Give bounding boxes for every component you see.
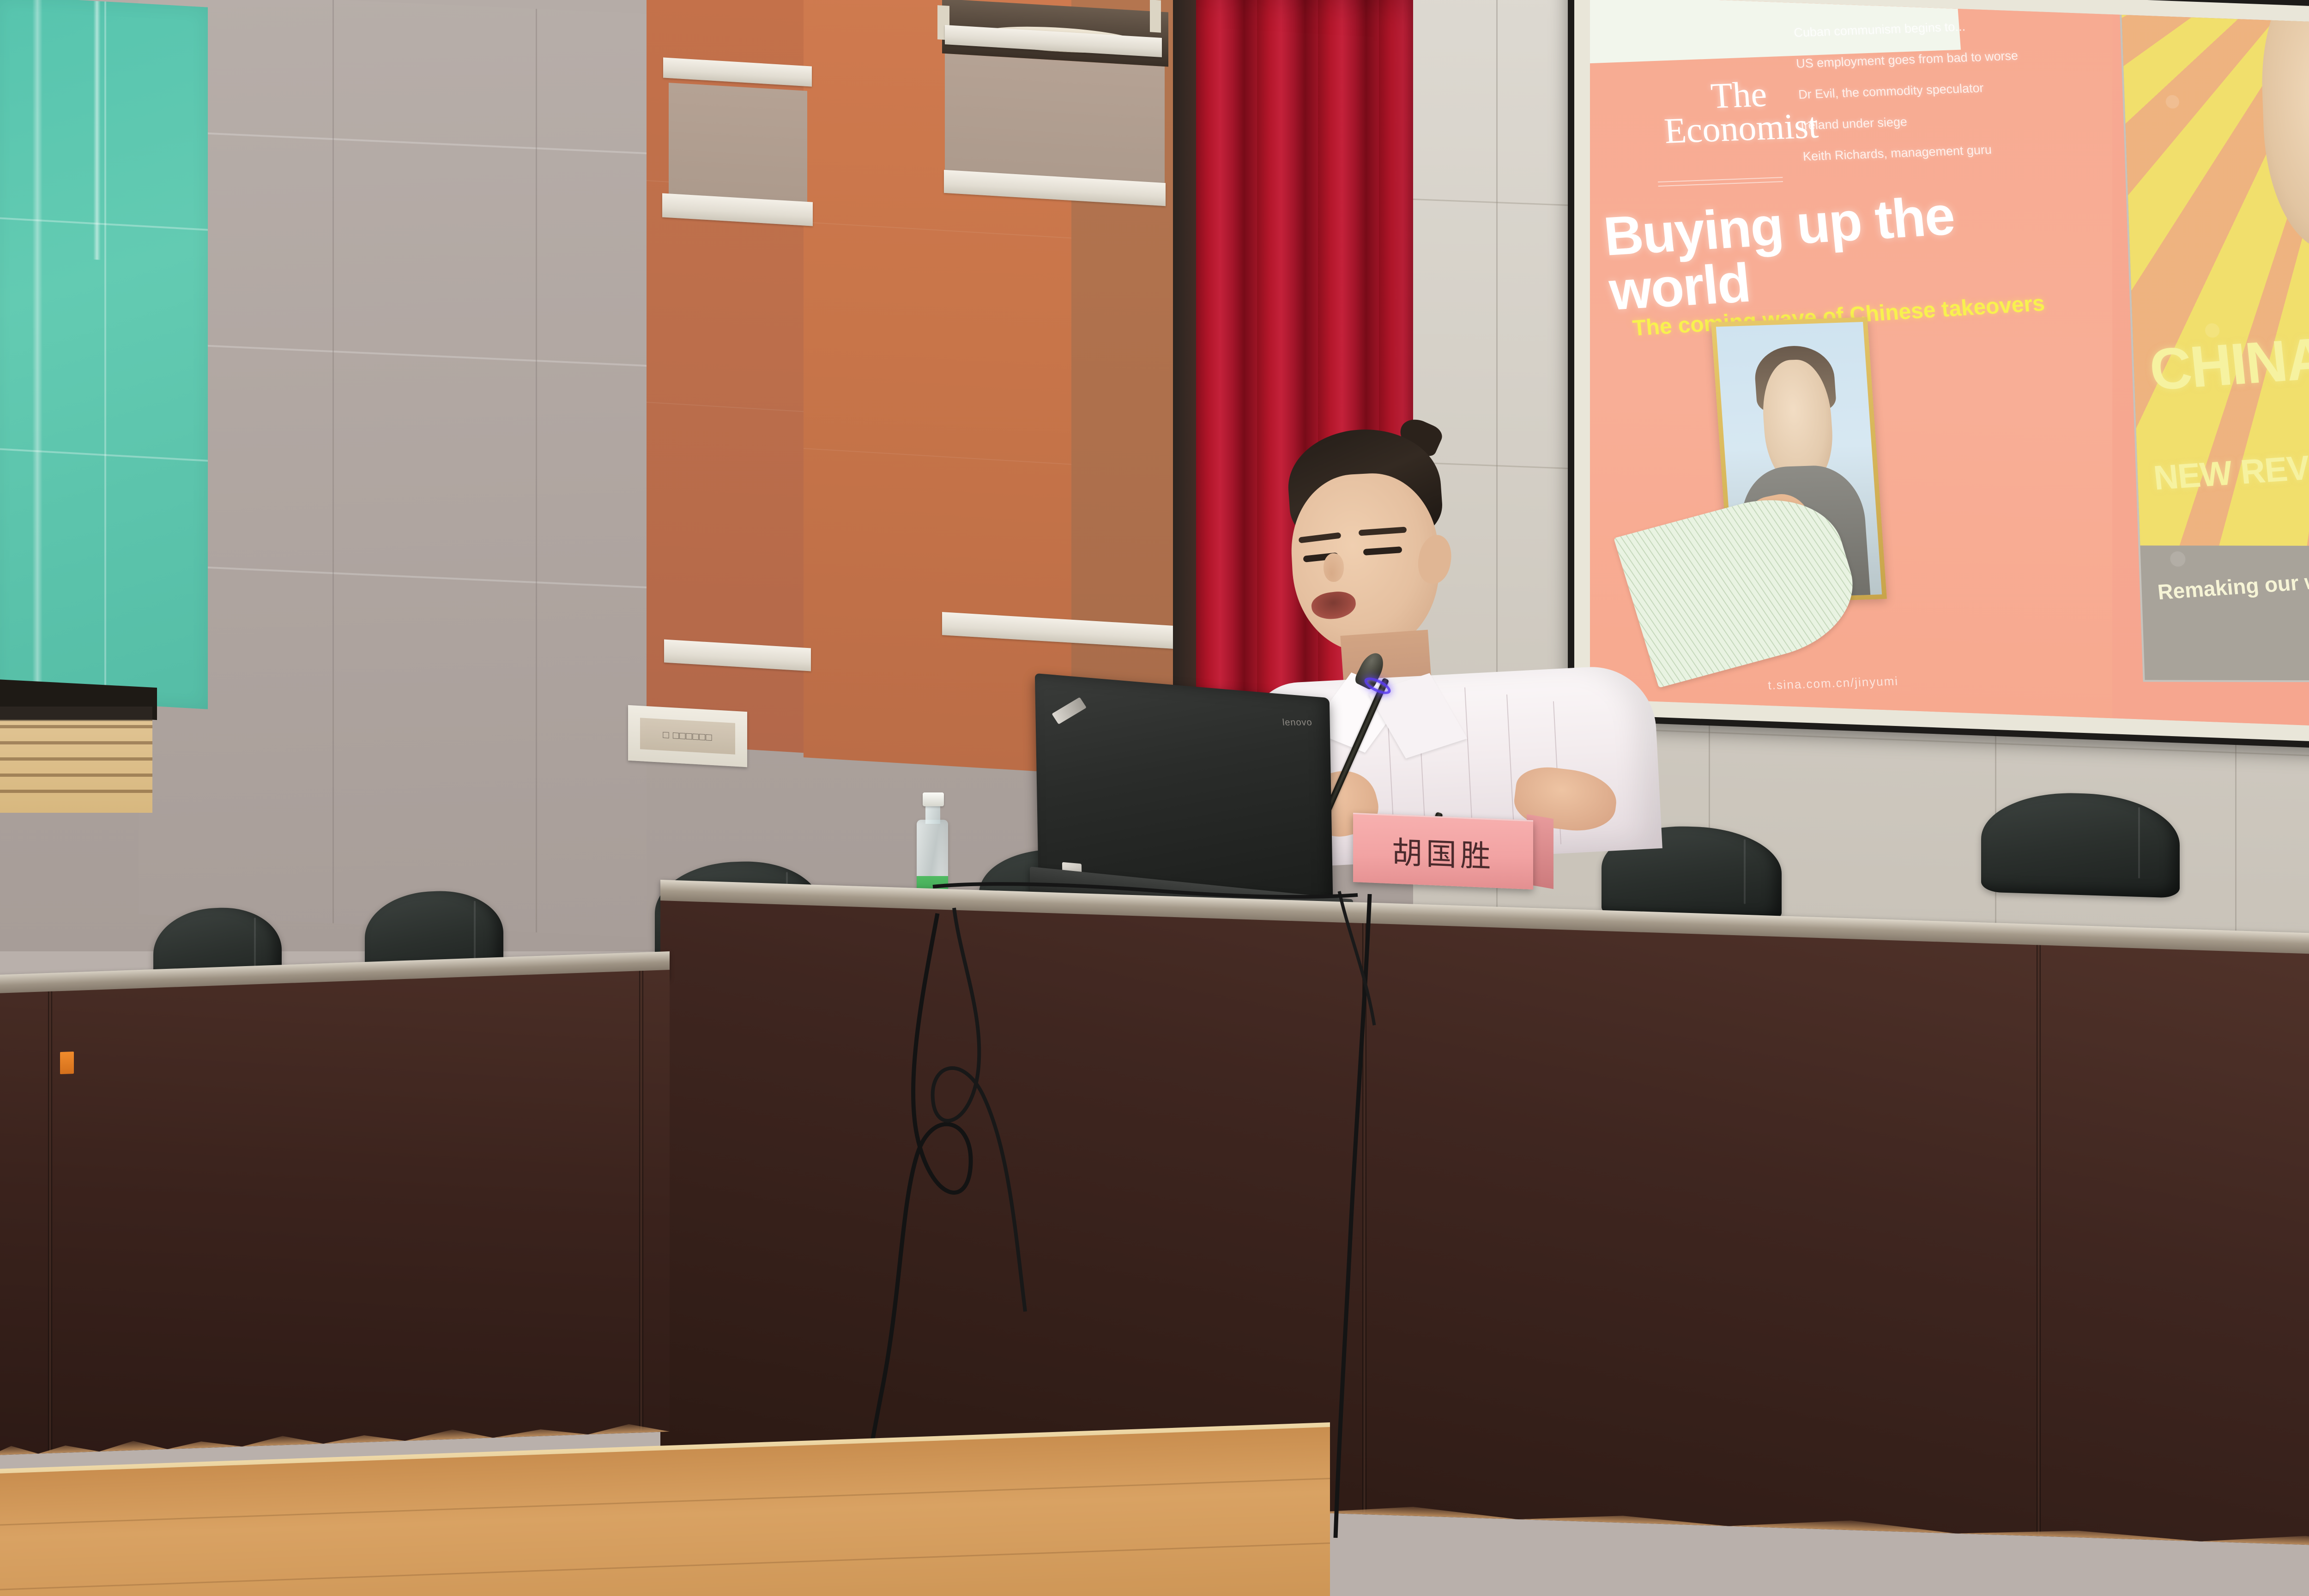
wall-plaque-text: □ □□□□□□	[640, 718, 735, 755]
teal-glass-panel	[0, 0, 208, 709]
wall-plaque: □ □□□□□□	[628, 705, 747, 767]
bottle-cap	[923, 792, 944, 806]
cover-bullet-2: US employment goes from bad to worse	[1796, 48, 2068, 71]
screen-mat: The Economist Cuban communism begins to.…	[1574, 0, 2309, 744]
cover-bullet-5: Keith Richards, management guru	[1803, 141, 2075, 163]
projected-slide: The Economist Cuban communism begins to.…	[1590, 0, 2309, 728]
cover-bullet-3: Dr Evil, the commodity speculator	[1798, 79, 2070, 102]
lenovo-logo-text: lenovo	[1282, 717, 1313, 728]
economist-masthead: The Economist	[1661, 75, 1819, 147]
tan-inset-upper-right	[945, 54, 1165, 191]
stage-floor	[0, 1427, 1330, 1596]
slide-watermark: t.sina.com.cn/jinyumi	[1767, 674, 1899, 692]
side-window	[0, 707, 152, 813]
china-revolution-poster-area: CHINA NEW REVOL Remaking our world,	[2112, 14, 2309, 728]
china-revolution-poster: CHINA NEW REVOL Remaking our world,	[2120, 14, 2309, 682]
ceiling-light-bracket-2	[1150, 0, 1161, 33]
thinkpad-logo-icon	[1052, 697, 1087, 724]
poster-title-line-1: CHINA	[2147, 324, 2309, 403]
tan-inset-upper-left	[669, 83, 807, 206]
photograph-scene: □ □□□□□□ The Economist	[0, 0, 2309, 1596]
projection-screen: The Economist Cuban communism begins to.…	[1568, 0, 2309, 751]
podium-front-left	[0, 970, 670, 1455]
grey-wall-column	[139, 0, 647, 937]
speaker-nose	[1324, 553, 1344, 582]
masthead-line-2: Economist	[1663, 109, 1819, 147]
masthead-rules	[1657, 174, 1783, 190]
cover-bullets: Cuban communism begins to... US employme…	[1794, 17, 2076, 182]
cover-bullet-4: Ireland under siege	[1801, 110, 2073, 133]
